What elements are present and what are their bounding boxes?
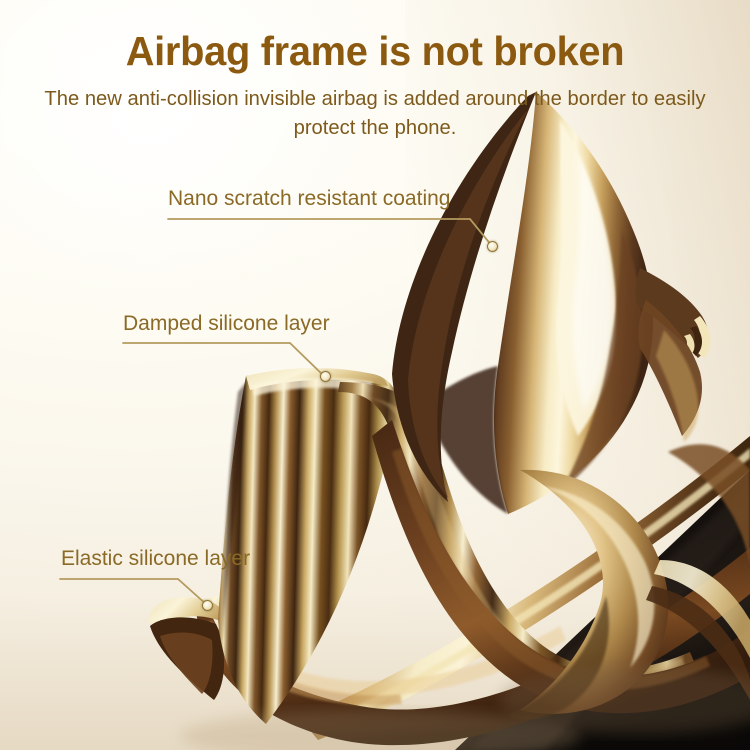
callout-label-nano: Nano scratch resistant coating xyxy=(168,186,450,212)
nano-coating-blade xyxy=(392,92,653,514)
callout-label-elastic: Elastic silicone layer xyxy=(61,546,250,572)
elastic-layer-tip xyxy=(148,597,226,700)
callout-dot-damped xyxy=(320,371,331,382)
product-feature-banner: Airbag frame is not broken The new anti-… xyxy=(0,0,750,750)
callout-label-damped: Damped silicone layer xyxy=(123,311,330,337)
page-subtitle: The new anti-collision invisible airbag … xyxy=(12,84,739,142)
callout-dot-elastic xyxy=(202,600,213,611)
blade-curled-tip-right xyxy=(636,268,711,442)
callout-dot-nano xyxy=(487,241,498,252)
page-title: Airbag frame is not broken xyxy=(11,26,739,76)
